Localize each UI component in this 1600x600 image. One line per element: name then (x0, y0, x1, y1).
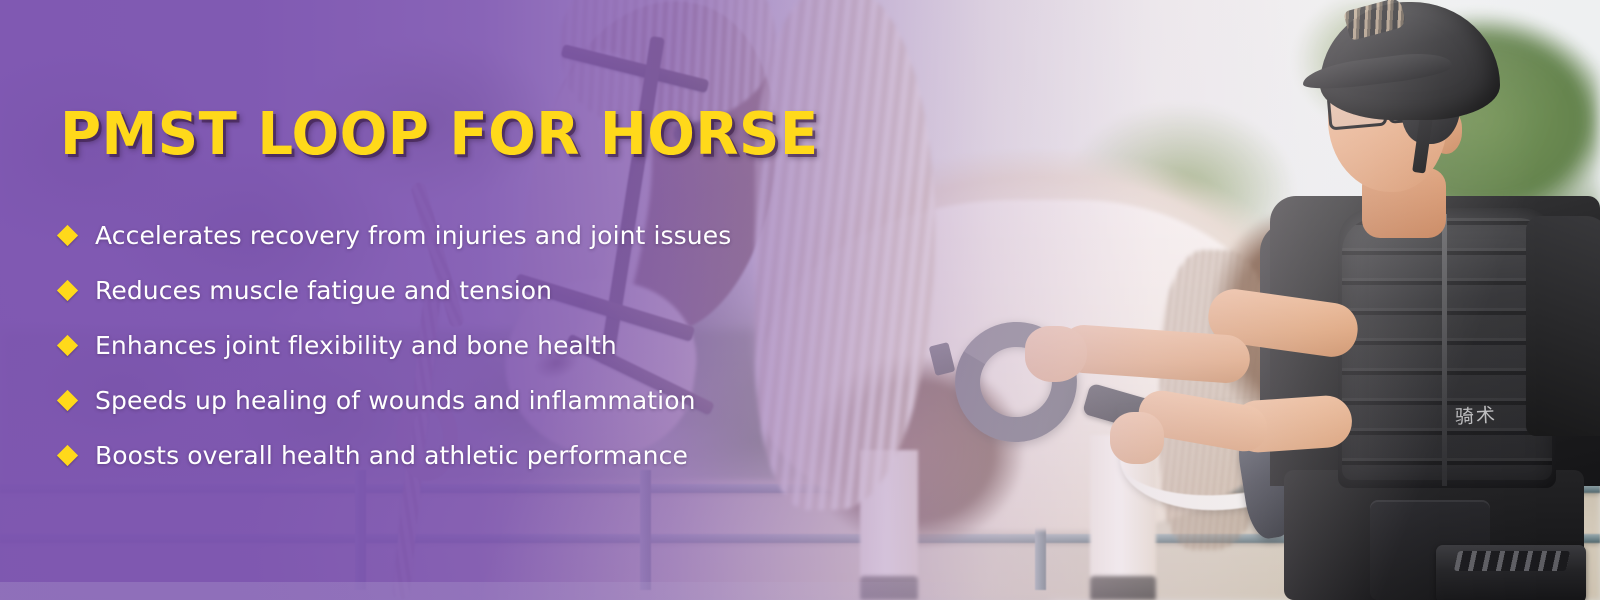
benefit-text: Accelerates recovery from injuries and j… (95, 221, 731, 250)
diamond-bullet-icon (57, 280, 78, 301)
list-item: Boosts overall health and athletic perfo… (60, 428, 880, 483)
diamond-bullet-icon (57, 390, 78, 411)
benefit-text: Speeds up healing of wounds and inflamma… (95, 386, 696, 415)
list-item: Accelerates recovery from injuries and j… (60, 208, 880, 263)
benefit-text: Enhances joint flexibility and bone heal… (95, 331, 617, 360)
diamond-bullet-icon (57, 225, 78, 246)
benefit-list: Accelerates recovery from injuries and j… (60, 208, 880, 483)
banner-title: PMST LOOP FOR HORSE (60, 104, 819, 163)
banner-content: PMST LOOP FOR HORSE Accelerates recovery… (0, 0, 900, 600)
promo-banner: 骑术 PMST LOOP FOR HORSE (0, 0, 1600, 600)
diamond-bullet-icon (57, 335, 78, 356)
benefit-text: Reduces muscle fatigue and tension (95, 276, 552, 305)
list-item: Speeds up healing of wounds and inflamma… (60, 373, 880, 428)
list-item: Reduces muscle fatigue and tension (60, 263, 880, 318)
benefit-text: Boosts overall health and athletic perfo… (95, 441, 688, 470)
list-item: Enhances joint flexibility and bone heal… (60, 318, 880, 373)
diamond-bullet-icon (57, 445, 78, 466)
